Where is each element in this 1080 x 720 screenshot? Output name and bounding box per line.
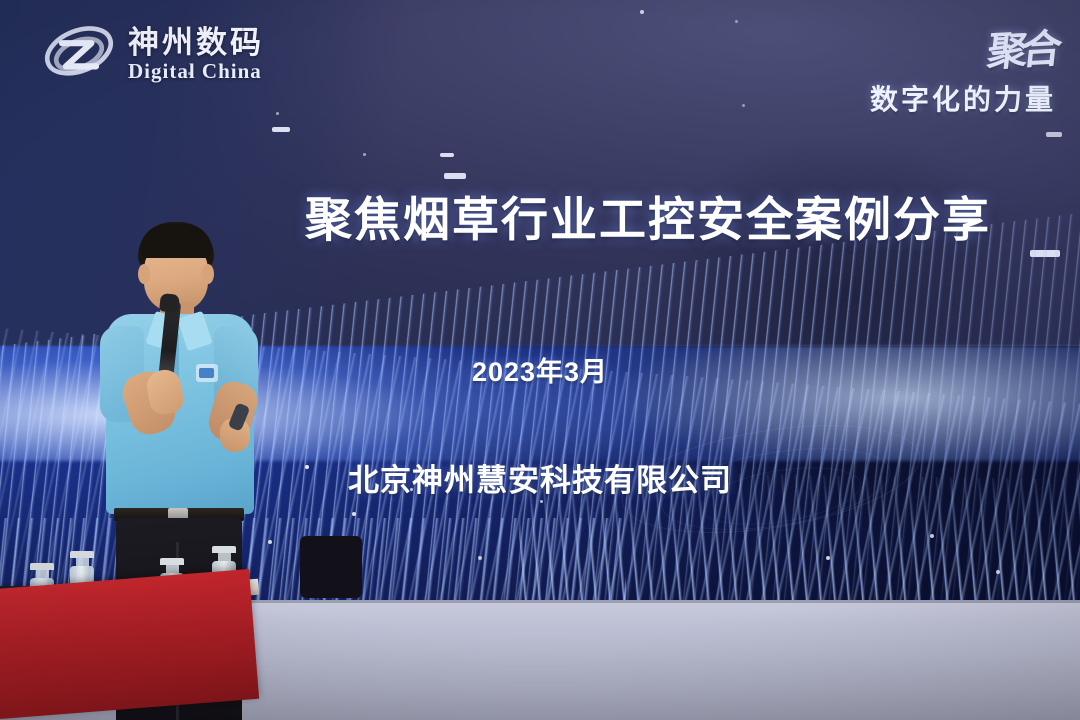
swirl-z-logo-icon [40, 20, 118, 88]
bottle-cap [70, 551, 94, 558]
bottle-neck [36, 570, 49, 578]
particle-streak-icon [640, 10, 644, 14]
background-figure [300, 536, 362, 598]
particle-streak-icon [440, 153, 454, 157]
particle-streak-icon [742, 104, 745, 107]
particle-streak-icon [363, 153, 366, 156]
speaker-shirt-logo-inner [199, 368, 214, 378]
particle-streak-icon [272, 127, 290, 132]
wave-glow-dot [540, 500, 543, 503]
red-table-drape [0, 569, 259, 720]
particle-streak-icon [1046, 132, 1062, 137]
wave-glow-dot [996, 570, 1000, 574]
bottle-neck [166, 565, 179, 573]
logo-english-name: Digital China [128, 61, 264, 82]
particle-streak-icon [735, 20, 738, 23]
event-logo-calligraphy: 聚合 [985, 16, 1060, 77]
event-logo-subtitle: 数字化的力量 [870, 78, 1056, 118]
speaker-hair-top [140, 224, 212, 258]
wave-glow-dot [352, 512, 356, 516]
speaker-ear-right [202, 264, 214, 284]
bottle-neck [76, 558, 89, 566]
wave-glow-dot [826, 556, 830, 560]
speaker-ear-left [138, 264, 150, 284]
microphone-head-icon [159, 293, 180, 313]
digital-china-logo: 神州数码 Digital China [40, 20, 264, 88]
wave-glow-dot [268, 540, 272, 544]
event-logo: 聚合 数字化的力量 [870, 18, 1056, 118]
bottle-neck [218, 553, 231, 561]
wave-glow-dot [930, 534, 934, 538]
bottle-cap [160, 558, 184, 565]
bottle-cap [212, 546, 236, 553]
bottle-cap [30, 563, 54, 570]
wave-glow-dot [478, 556, 482, 560]
particle-streak-icon [276, 112, 279, 115]
slide-title: 聚焦烟草行业工控安全案例分享 [305, 181, 1005, 250]
logo-chinese-name: 神州数码 [128, 27, 264, 58]
conference-stage-photo: 神州数码 Digital China 聚合 数字化的力量 聚焦烟草行业工控安全案… [0, 0, 1080, 720]
particle-streak-icon [444, 173, 466, 179]
